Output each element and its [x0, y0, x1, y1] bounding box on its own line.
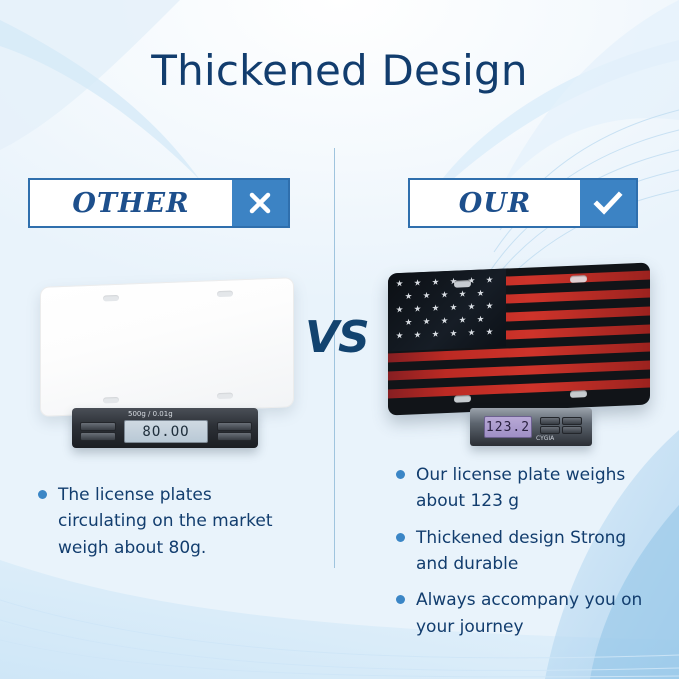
plate-hole — [217, 290, 233, 297]
plate-hole — [454, 395, 471, 403]
other-label-bar: OTHER — [28, 178, 290, 228]
scale-button[interactable] — [217, 432, 252, 441]
scale-button[interactable] — [80, 432, 116, 441]
bullet-text: The license plates circulating on the ma… — [58, 482, 296, 561]
flag-canton — [388, 269, 506, 352]
bullet-text: Always accompany you on your journey — [416, 587, 658, 640]
bullet-dot-icon — [38, 490, 47, 499]
scale-button[interactable] — [562, 417, 582, 425]
left-scale-display-value: 8O.OO — [142, 424, 189, 440]
plate-hole — [454, 280, 471, 288]
right-scale-display-value: 123.2 — [486, 420, 530, 435]
scale-button[interactable] — [562, 426, 582, 434]
left-digital-scale: 500g / 0.01g 8O.OO — [72, 408, 258, 448]
our-label-bar: OUR — [408, 178, 638, 228]
page-title: Thickened Design — [0, 48, 679, 94]
promo-image-root: Thickened Design OTHER OUR VS 500g / 0.0… — [0, 0, 679, 679]
list-item: Always accompany you on your journey — [396, 587, 658, 640]
list-item: Thickened design Strong and durable — [396, 525, 658, 578]
white-license-plate — [40, 277, 294, 417]
check-icon — [580, 180, 636, 226]
scale-button[interactable] — [540, 417, 560, 425]
plate-hole — [570, 390, 587, 398]
flag-license-plate — [388, 263, 650, 416]
bullet-text: Our license plate weighs about 123 g — [416, 462, 658, 515]
plate-hole — [103, 295, 119, 302]
bullet-dot-icon — [396, 533, 405, 542]
right-scale-display: 123.2 — [484, 416, 532, 438]
list-item: The license plates circulating on the ma… — [38, 482, 296, 561]
plate-hole — [570, 275, 587, 283]
scale-capacity-text: 500g / 0.01g — [128, 410, 173, 418]
vs-label: VS — [305, 312, 369, 363]
list-item: Our license plate weighs about 123 g — [396, 462, 658, 515]
scale-button[interactable] — [540, 426, 560, 434]
right-bullet-list: Our license plate weighs about 123 g Thi… — [396, 462, 658, 650]
plate-hole — [103, 397, 119, 404]
other-label-text: OTHER — [30, 180, 232, 226]
plate-hole — [217, 392, 233, 399]
right-digital-scale: CYGIA 123.2 — [470, 402, 592, 452]
left-bullet-list: The license plates circulating on the ma… — [38, 482, 296, 571]
scale-button[interactable] — [217, 422, 252, 431]
scale-brand-text: CYGIA — [536, 435, 554, 442]
bullet-dot-icon — [396, 595, 405, 604]
bullet-text: Thickened design Strong and durable — [416, 525, 658, 578]
left-scale-display: 8O.OO — [124, 420, 208, 443]
scale-button[interactable] — [80, 422, 116, 431]
bullet-dot-icon — [396, 470, 405, 479]
cross-icon — [232, 180, 288, 226]
our-label-text: OUR — [410, 180, 580, 226]
